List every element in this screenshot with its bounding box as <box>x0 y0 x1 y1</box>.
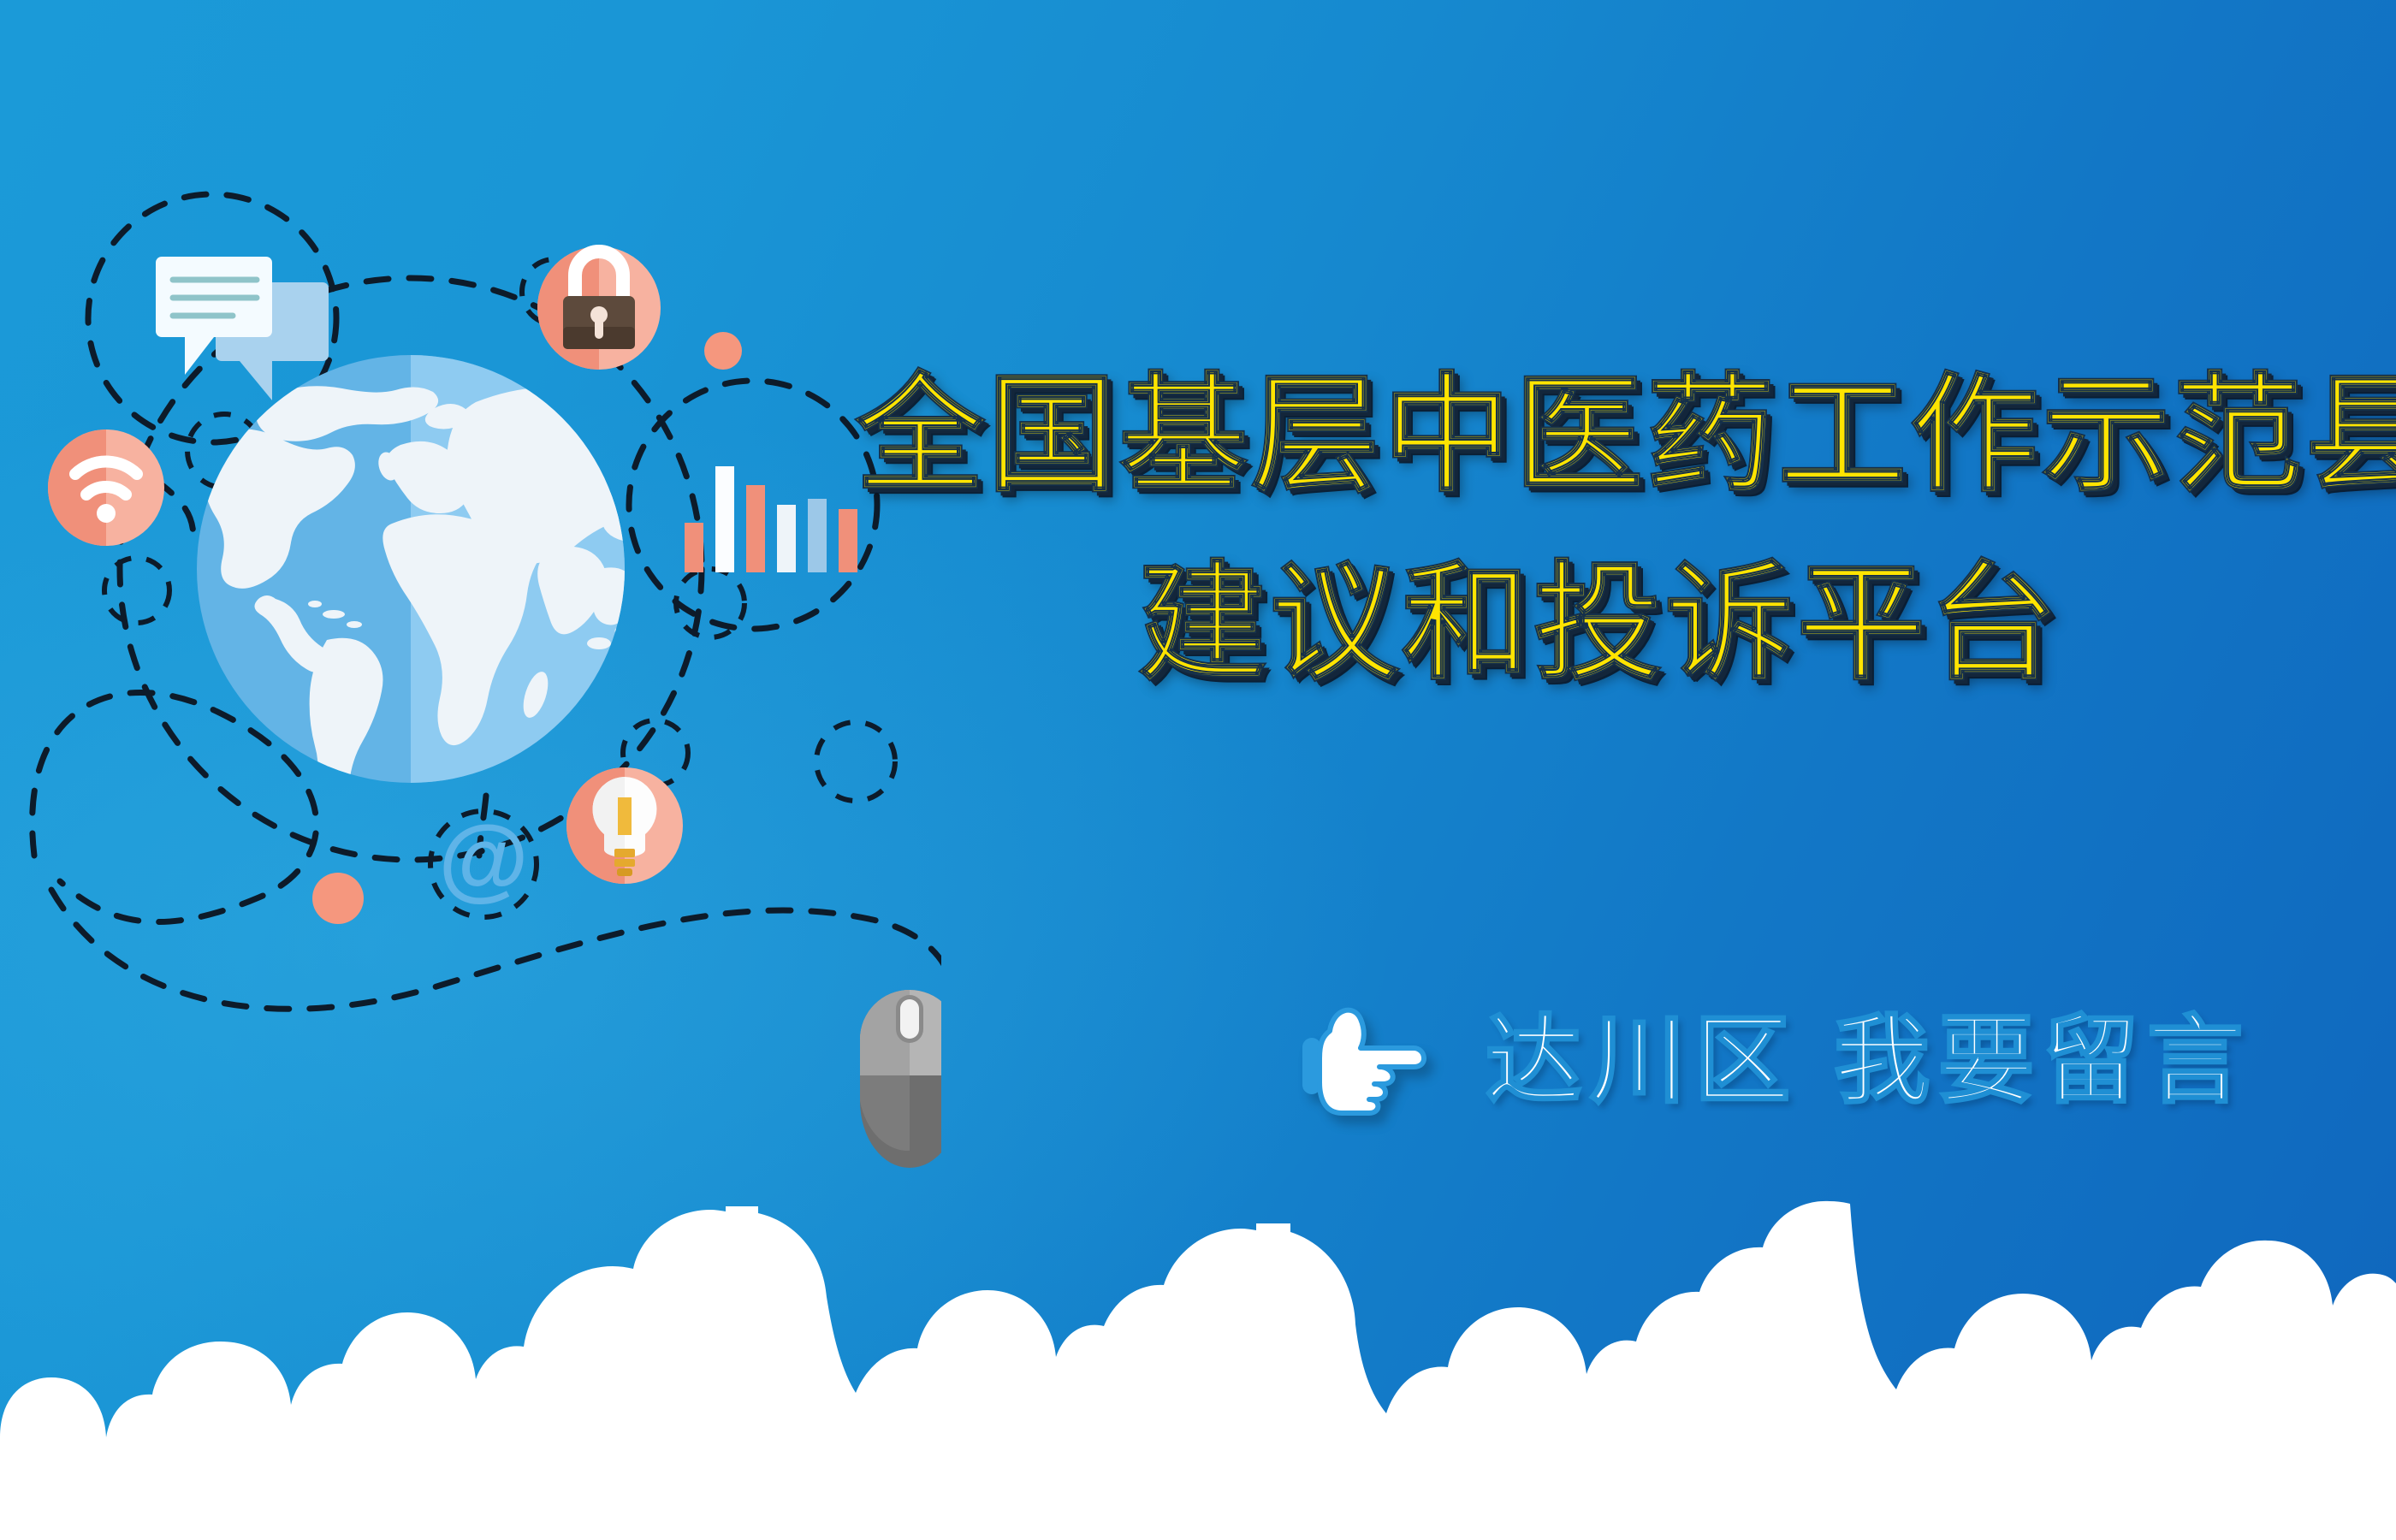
banner-root: @ 全国基层中医药工作示范县 建议和投诉平台 达川区 我要留言 <box>0 0 2396 1540</box>
at-sign-icon: @ <box>438 806 528 909</box>
title-block: 全国基层中医药工作示范县 建议和投诉平台 <box>856 368 2396 690</box>
dashed-circle-small-3 <box>104 558 169 623</box>
chat-bubbles-icon <box>156 257 329 400</box>
network-illustration: @ <box>0 0 941 1215</box>
cloud-silhouette <box>0 1181 2396 1540</box>
dashed-circle-small-5 <box>816 722 895 801</box>
lock-badge <box>537 246 661 370</box>
cta-row[interactable]: 达川区 我要留言 <box>1301 997 2251 1125</box>
computer-mouse-icon <box>860 990 941 1168</box>
title-line-1: 全国基层中医药工作示范县 <box>856 368 2396 503</box>
coral-dot-left <box>312 873 364 924</box>
pointing-hand-icon[interactable] <box>1301 997 1438 1125</box>
cta-label[interactable]: 达川区 我要留言 <box>1486 1013 2251 1109</box>
lightbulb-badge <box>566 767 683 884</box>
title-line-2: 建议和投诉平台 <box>1138 556 2396 691</box>
wifi-badge <box>48 429 164 546</box>
coral-dot-right <box>704 332 742 370</box>
bar-chart-icon <box>685 466 857 572</box>
